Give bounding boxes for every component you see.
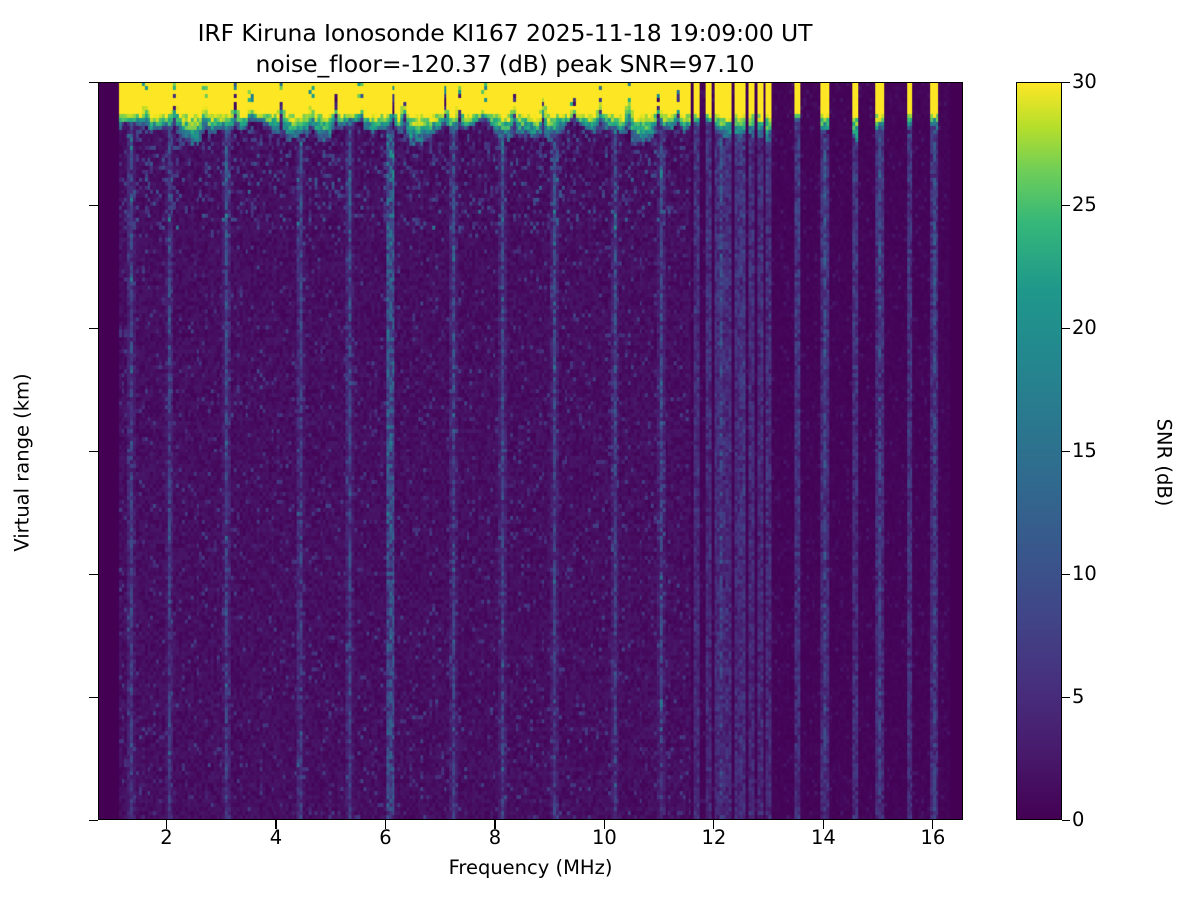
colorbar-tick-mark-15 — [1062, 451, 1070, 452]
x-tick-mark-10 — [604, 820, 605, 829]
colorbar-tick-label-25: 25 — [1072, 195, 1162, 215]
y-tick-mark-100 — [89, 697, 98, 698]
y-tick-mark-300 — [89, 451, 98, 452]
x-axis-label: Frequency (MHz) — [98, 856, 963, 879]
x-tick-mark-2 — [166, 820, 167, 829]
x-tick-mark-16 — [932, 820, 933, 829]
colorbar-tick-label-20: 20 — [1072, 318, 1162, 338]
colorbar-tick-mark-5 — [1062, 697, 1070, 698]
x-tick-mark-6 — [385, 820, 386, 829]
x-tick-label-2: 2 — [126, 828, 206, 848]
x-tick-label-12: 12 — [674, 828, 754, 848]
y-tick-mark-600 — [89, 82, 98, 83]
y-tick-mark-0 — [89, 820, 98, 821]
x-tick-mark-12 — [713, 820, 714, 829]
colorbar — [1016, 82, 1062, 820]
y-tick-mark-500 — [89, 205, 98, 206]
x-tick-label-4: 4 — [236, 828, 316, 848]
x-tick-mark-14 — [823, 820, 824, 829]
x-tick-label-16: 16 — [893, 828, 973, 848]
colorbar-tick-label-15: 15 — [1072, 441, 1162, 461]
ionogram-axes — [98, 82, 963, 820]
x-tick-mark-4 — [275, 820, 276, 829]
y-tick-mark-200 — [89, 574, 98, 575]
y-axis-label: Virtual range (km) — [11, 283, 34, 643]
ionogram-heatmap — [99, 83, 962, 819]
x-tick-label-14: 14 — [783, 828, 863, 848]
x-tick-label-6: 6 — [345, 828, 425, 848]
chart-title: IRF Kiruna Ionosonde KI167 2025-11-18 19… — [0, 18, 1010, 80]
colorbar-tick-mark-0 — [1062, 820, 1070, 821]
x-tick-label-10: 10 — [564, 828, 644, 848]
colorbar-tick-label-0: 0 — [1072, 810, 1162, 830]
colorbar-tick-mark-30 — [1062, 82, 1070, 83]
x-tick-mark-8 — [494, 820, 495, 829]
x-tick-label-8: 8 — [455, 828, 535, 848]
colorbar-tick-mark-25 — [1062, 205, 1070, 206]
colorbar-tick-mark-20 — [1062, 328, 1070, 329]
colorbar-tick-label-5: 5 — [1072, 687, 1162, 707]
colorbar-tick-mark-10 — [1062, 574, 1070, 575]
colorbar-tick-label-10: 10 — [1072, 564, 1162, 584]
ionogram-figure: IRF Kiruna Ionosonde KI167 2025-11-18 19… — [0, 0, 1200, 900]
colorbar-tick-label-30: 30 — [1072, 72, 1162, 92]
y-tick-mark-400 — [89, 328, 98, 329]
